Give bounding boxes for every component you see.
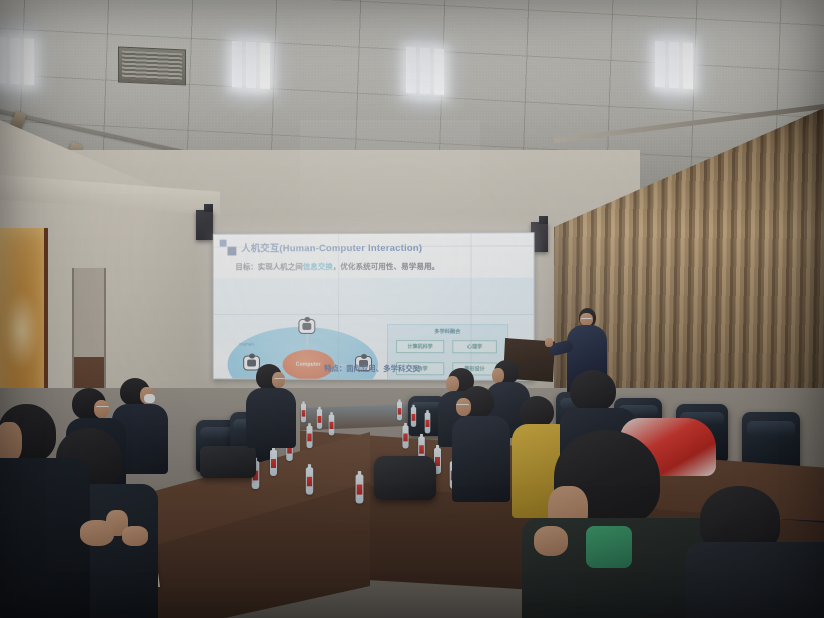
body xyxy=(686,542,824,618)
face xyxy=(492,368,504,383)
light-bar xyxy=(655,41,665,88)
presenter-hand xyxy=(545,338,553,347)
light-bar xyxy=(24,38,34,85)
glasses xyxy=(274,378,285,381)
light-bar xyxy=(246,42,256,89)
hand xyxy=(534,526,568,556)
audience-member xyxy=(246,364,296,444)
light-bar xyxy=(0,37,6,84)
hand xyxy=(122,526,148,546)
bag-on-table[interactable] xyxy=(200,446,256,478)
square-marker-icon xyxy=(228,247,237,256)
air-vent xyxy=(118,46,186,85)
light-bar xyxy=(260,42,270,89)
water-bottle[interactable] xyxy=(329,415,335,436)
water-bottle[interactable] xyxy=(411,407,416,427)
face xyxy=(0,422,22,462)
ceiling-light-group-1 xyxy=(0,37,34,85)
slide-title: 人机交互(Human-Computer Interaction) xyxy=(241,240,422,255)
water-bottle[interactable] xyxy=(402,426,408,449)
water-bottle[interactable] xyxy=(306,426,312,448)
discipline-box-1: 计算机科学 xyxy=(396,340,444,353)
backpack[interactable] xyxy=(374,456,436,500)
light-bar xyxy=(406,47,416,94)
square-marker-icon xyxy=(220,240,227,247)
water-bottle[interactable] xyxy=(356,474,364,503)
discipline-box-2: 心理学 xyxy=(452,340,497,353)
green-collar xyxy=(586,526,632,568)
face xyxy=(456,398,471,416)
water-bottle[interactable] xyxy=(301,404,306,423)
wall-speaker-left xyxy=(196,210,213,240)
ceiling-light-group-2 xyxy=(232,41,270,89)
light-bar xyxy=(434,48,444,95)
water-bottle[interactable] xyxy=(317,409,322,429)
light-bar xyxy=(10,38,20,85)
slide-subtitle: 目标：实现人机之间信息交换，优化系统可用性、易学易用。 xyxy=(235,261,439,273)
subtitle-highlight: 信息交换 xyxy=(303,262,333,271)
conference-room-photo: 人机交互(Human-Computer Interaction) 目标：实现人机… xyxy=(0,0,824,618)
light-bar xyxy=(420,48,430,95)
slide-body: Human Computer 多学科融合 计算机科学 心理学 社会学 xyxy=(214,278,534,361)
body xyxy=(246,388,296,448)
water-bottle[interactable] xyxy=(270,450,277,476)
panel-title: 多学科融合 xyxy=(388,328,507,335)
water-bottle[interactable] xyxy=(425,413,431,434)
water-bottle[interactable] xyxy=(397,402,402,421)
human-label: Human xyxy=(239,342,254,347)
body xyxy=(452,416,510,502)
water-bottle[interactable] xyxy=(306,467,313,494)
audience-member xyxy=(452,386,510,496)
head xyxy=(570,370,616,412)
audience-member-foreground xyxy=(0,404,80,618)
subtitle-suffix: ，优化系统可用性、易学易用。 xyxy=(333,262,439,271)
light-bar xyxy=(669,42,679,89)
body xyxy=(0,458,90,618)
presenter-glasses xyxy=(581,318,592,321)
presentation-slide: 人机交互(Human-Computer Interaction) 目标：实现人机… xyxy=(214,233,534,380)
subtitle-prefix: 目标：实现人机之间 xyxy=(235,262,302,271)
link-line-top xyxy=(306,333,308,351)
face xyxy=(94,400,109,418)
projection-screen: 人机交互(Human-Computer Interaction) 目标：实现人机… xyxy=(213,232,535,381)
ceiling-light-group-4 xyxy=(655,41,693,89)
hand xyxy=(80,520,114,546)
person-node-top xyxy=(298,319,315,334)
light-bar xyxy=(232,41,242,88)
glasses xyxy=(96,406,109,409)
ceiling-light-group-3 xyxy=(406,47,444,95)
light-bar xyxy=(683,42,693,89)
audience-member-foreground xyxy=(700,486,824,618)
person-glyph-icon xyxy=(302,323,311,330)
face-mask xyxy=(144,394,155,403)
amber-panel-glow xyxy=(2,290,40,370)
glasses xyxy=(456,404,469,407)
